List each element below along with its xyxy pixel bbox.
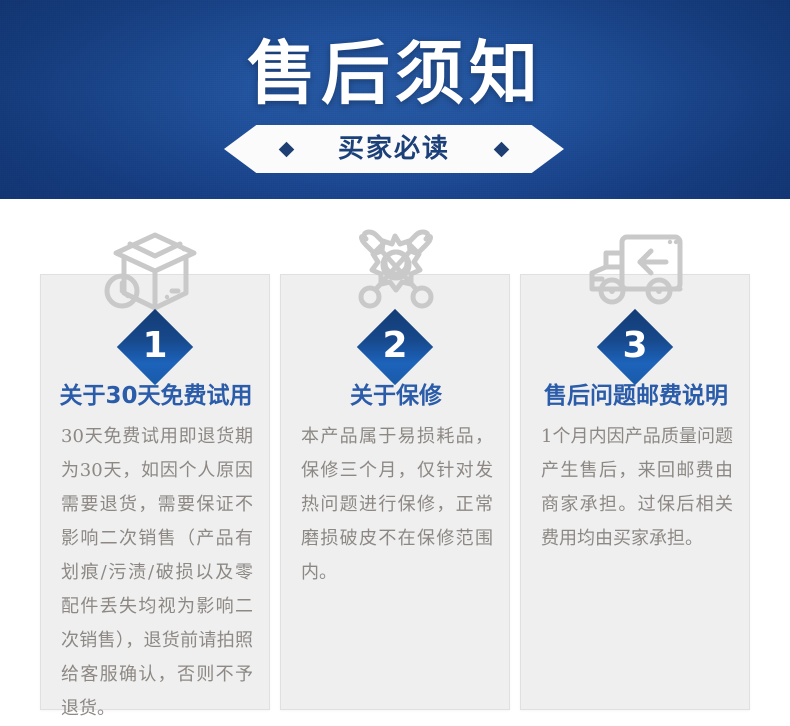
card-body-2: 本产品属于易损耗品，保修三个月，仅针对发热问题进行保修，正常磨损破皮不在保修范围… — [301, 420, 493, 590]
card-title-1: 关于30天免费试用 — [41, 382, 271, 410]
badge-number: 3 — [597, 309, 673, 385]
open-box-with-clock-icon — [100, 227, 210, 319]
card-body-3: 1个月内因产品质量问题产生售后，来回邮费由商家承担。过保后相关费用均由买家承担。 — [541, 420, 733, 556]
badge-number: 1 — [117, 309, 193, 385]
card-title-3: 售后问题邮费说明 — [521, 382, 751, 410]
page-title: 售后须知 — [0, 33, 790, 115]
card-badge-3: 3 — [597, 309, 673, 385]
card-title-2: 关于保修 — [281, 382, 511, 410]
diamond-left-icon — [279, 141, 295, 157]
ribbon-label: 买家必读 — [338, 134, 450, 164]
ribbon-content: 买家必读 — [281, 134, 507, 164]
notice-card-3: 3 售后问题邮费说明 1个月内因产品质量问题产生售后，来回邮费由商家承担。过保后… — [520, 274, 750, 710]
notice-card-1: 1 关于30天免费试用 30天免费试用即退货期为30天，如因个人原因需要退货，需… — [40, 274, 270, 710]
return-truck-icon — [580, 227, 690, 319]
crossed-wrenches-gear-icon — [340, 227, 450, 319]
diamond-right-icon — [494, 141, 510, 157]
buyer-notice-ribbon: 买家必读 — [224, 125, 564, 173]
card-badge-2: 2 — [357, 309, 433, 385]
notice-card-2: 2 关于保修 本产品属于易损耗品，保修三个月，仅针对发热问题进行保修，正常磨损破… — [280, 274, 510, 710]
card-body-1: 30天免费试用即退货期为30天，如因个人原因需要退货，需要保证不影响二次销售（产… — [61, 420, 253, 726]
card-badge-1: 1 — [117, 309, 193, 385]
notice-cards-container: 1 关于30天免费试用 30天免费试用即退货期为30天，如因个人原因需要退货，需… — [40, 274, 750, 710]
badge-number: 2 — [357, 309, 433, 385]
page-header-banner: 售后须知 买家必读 — [0, 0, 790, 199]
